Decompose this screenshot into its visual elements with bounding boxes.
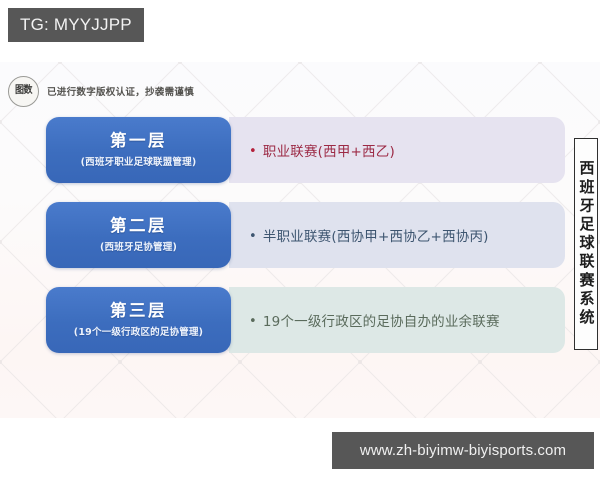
infographic-canvas: 图数 已进行数字版权认证，抄袭需谨慎 第一层 (西班牙职业足球联盟管理) •职业… [0,62,600,418]
tier-box-1: 第一层 (西班牙职业足球联盟管理) [46,117,231,183]
bullet-icon: • [249,314,257,329]
tier-row: 第一层 (西班牙职业足球联盟管理) •职业联赛(西甲+西乙) [46,117,565,183]
tier-title: 第三层 [110,302,167,320]
logo-glyphs: 图数 [15,86,32,96]
tier-panel-text: 半职业联赛(西协甲+西协乙+西协丙) [263,229,489,245]
vertical-system-label: 西班牙足球联赛系统 [574,138,598,350]
tier-title: 第一层 [110,132,167,150]
tier-title: 第二层 [110,217,167,235]
tier-panel-content: •19个一级行政区的足协自办的业余联赛 [249,310,500,330]
site-url-banner: www.zh-biyimw-biyisports.com [332,432,594,469]
tier-box-2: 第二层 (西班牙足协管理) [46,202,231,268]
tier-row: 第二层 (西班牙足协管理) •半职业联赛(西协甲+西协乙+西协丙) [46,202,565,268]
tier-panel-text: 职业联赛(西甲+西乙) [263,144,395,160]
tier-panel-content: •半职业联赛(西协甲+西协乙+西协丙) [249,225,489,245]
tier-panel-text: 19个一级行政区的足协自办的业余联赛 [263,314,500,330]
publisher-logo-icon: 图数 [8,76,39,107]
bullet-icon: • [249,144,257,159]
tier-box-3: 第三层 (19个一级行政区的足协管理) [46,287,231,353]
tg-tag-overlay: TG: MYYJJPP [8,8,144,42]
tier-subtitle: (西班牙足协管理) [100,239,177,253]
tier-subtitle: (19个一级行政区的足协管理) [74,324,203,338]
tier-panel-2: •半职业联赛(西协甲+西协乙+西协丙) [229,202,565,268]
vertical-label-text: 西班牙足球联赛系统 [579,160,594,327]
tier-panel-3: •19个一级行政区的足协自办的业余联赛 [229,287,565,353]
tier-panel-1: •职业联赛(西甲+西乙) [229,117,565,183]
copyright-notice: 图数 已进行数字版权认证，抄袭需谨慎 [8,76,194,106]
bullet-icon: • [249,229,257,244]
tier-row: 第三层 (19个一级行政区的足协管理) •19个一级行政区的足协自办的业余联赛 [46,287,565,353]
tier-panel-content: •职业联赛(西甲+西乙) [249,140,395,160]
tier-subtitle: (西班牙职业足球联盟管理) [81,154,197,168]
copyright-text: 已进行数字版权认证，抄袭需谨慎 [47,84,194,98]
